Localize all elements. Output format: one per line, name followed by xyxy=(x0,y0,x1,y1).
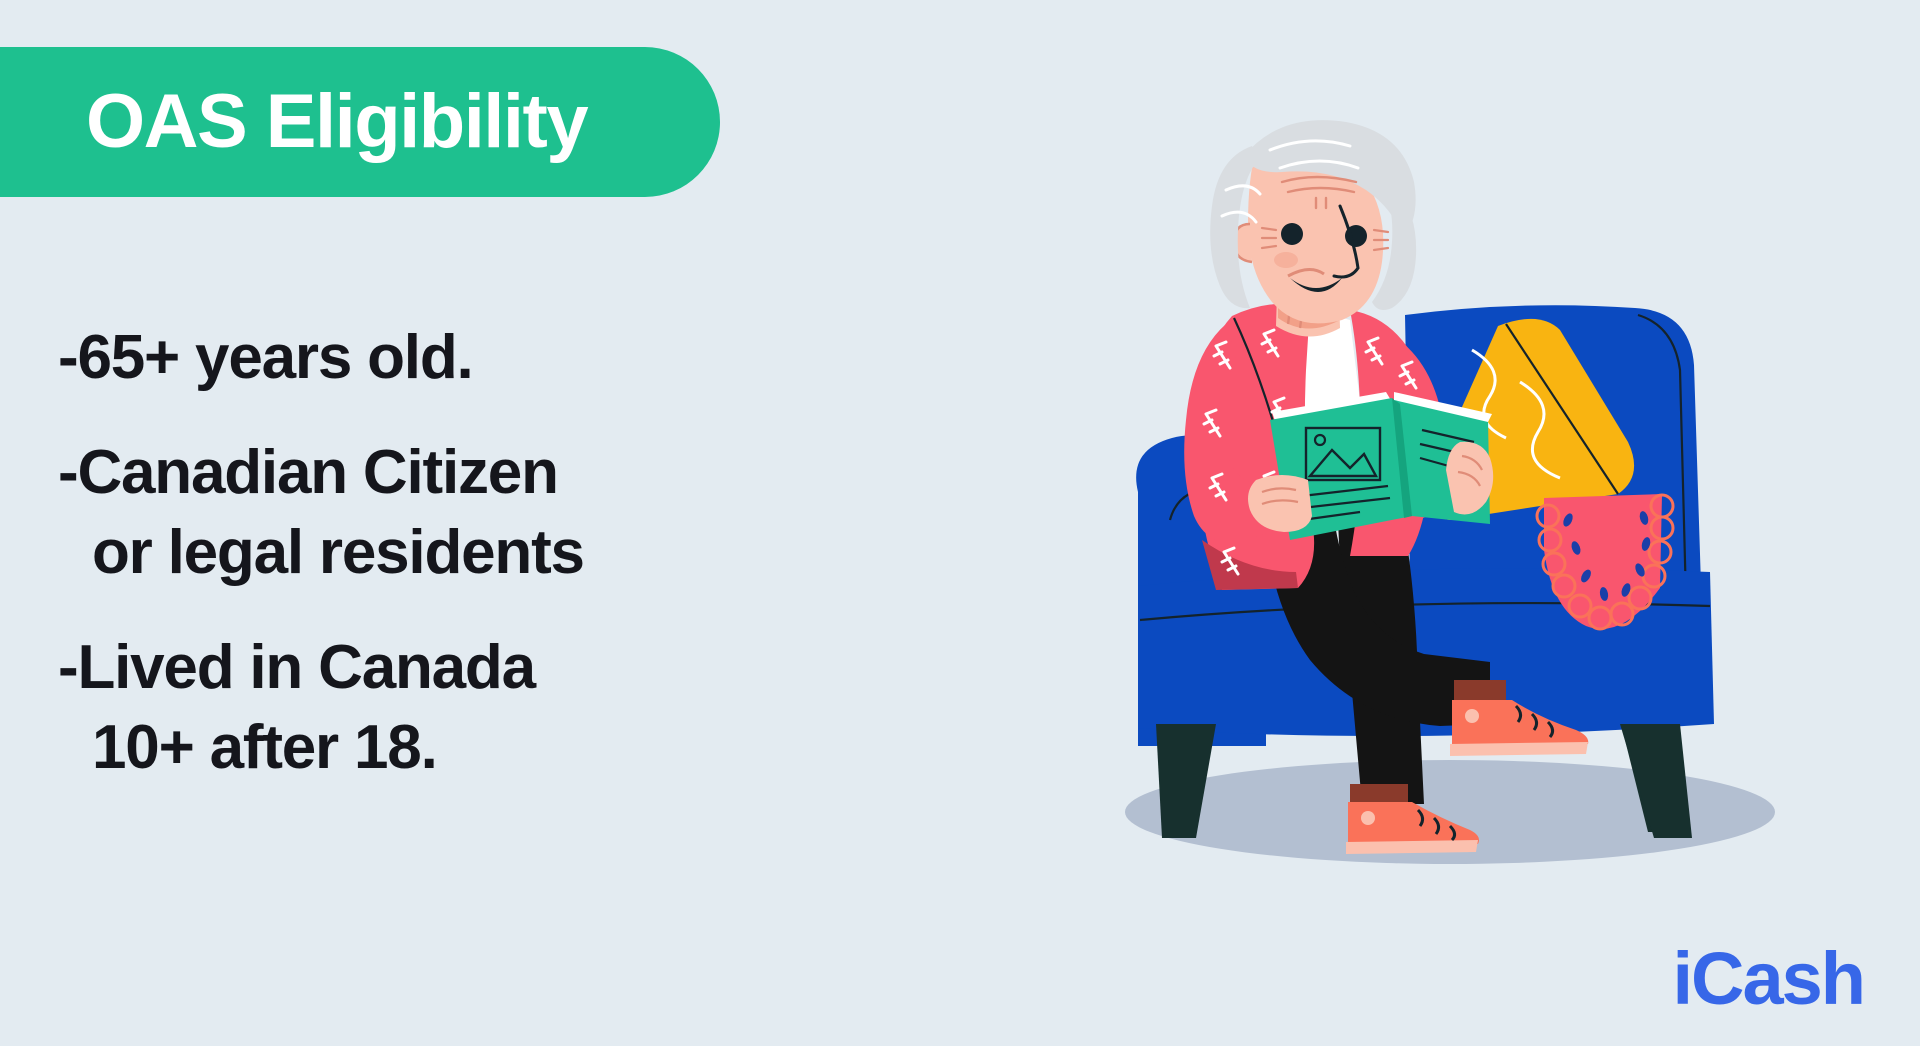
list-item-line: -Canadian Citizen xyxy=(58,433,878,514)
shoe-bottom-sole xyxy=(1346,840,1478,854)
eye-left xyxy=(1281,223,1303,245)
illustration-elderly-woman-reading xyxy=(1020,120,1860,920)
cheek-left xyxy=(1274,252,1298,268)
list-item-line: -65+ years old. xyxy=(58,318,878,399)
list-item-line: 10+ after 18. xyxy=(58,708,878,789)
list-item-line: or legal residents xyxy=(58,513,878,594)
list-item: -Lived in Canada 10+ after 18. xyxy=(58,628,878,789)
eligibility-list: -65+ years old. -Canadian Citizen or leg… xyxy=(58,318,878,823)
poster-canvas: OAS Eligibility -65+ years old. -Canadia… xyxy=(0,0,1920,1046)
list-item: -Canadian Citizen or legal residents xyxy=(58,433,878,594)
shoe-bottom-dot xyxy=(1361,811,1375,825)
page-title: OAS Eligibility xyxy=(86,84,587,160)
list-item-line: -Lived in Canada xyxy=(58,628,878,709)
list-item: -65+ years old. xyxy=(58,318,878,399)
shoe-front-dot xyxy=(1465,709,1479,723)
title-banner: OAS Eligibility xyxy=(0,47,720,197)
icash-logo: iCash xyxy=(1672,942,1864,1016)
shoe-front-sole xyxy=(1450,742,1588,756)
